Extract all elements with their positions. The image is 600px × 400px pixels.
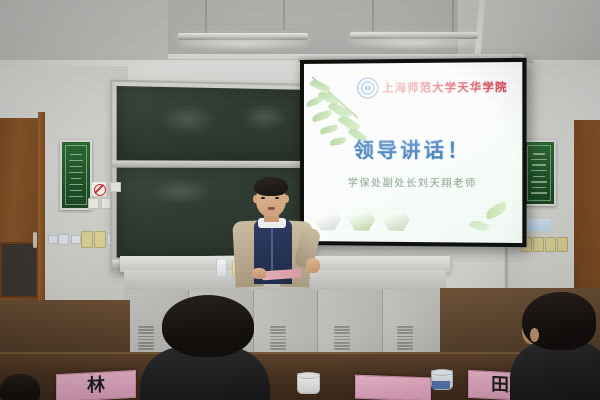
audience-person-left — [0, 374, 38, 400]
light-rod — [283, 0, 285, 30]
slide-subtitle: 学保处副处长刘天翔老师 — [304, 174, 522, 190]
audience-hair — [162, 295, 254, 357]
light-glow — [176, 36, 312, 52]
name-placard-left: 林 — [56, 370, 136, 400]
speaker-hair — [254, 177, 288, 196]
placard-text: 林 — [87, 377, 105, 396]
no-smoking-icon — [92, 182, 106, 196]
notice-board-text — [68, 149, 84, 202]
audience-ear — [530, 328, 539, 342]
leaf-decoration-right — [484, 201, 509, 220]
paper-cup — [431, 370, 453, 390]
speaker-mouth — [268, 207, 275, 210]
audience-person-right — [508, 290, 600, 400]
audience-jacket — [510, 342, 600, 400]
light-rod — [452, 0, 454, 34]
slide-thumbnails — [314, 207, 410, 232]
paper-cup — [297, 373, 320, 394]
speaker-hand-raised — [306, 258, 320, 273]
projection-screen: H 上海师范大学天华学院 领导讲话！ 学保处副处长刘天翔老师 — [300, 58, 527, 247]
blackboard-panel-top — [117, 86, 308, 162]
light-switch[interactable] — [533, 237, 544, 252]
ceiling-soffit-left — [0, 0, 180, 62]
water-bottle — [216, 259, 227, 277]
speaker-eye — [275, 197, 279, 199]
light-switch[interactable] — [88, 198, 99, 209]
speaker-ear — [284, 195, 289, 203]
notice-board-text — [530, 149, 548, 198]
name-placard-center — [355, 375, 431, 400]
hex-photo-3-icon — [382, 207, 409, 231]
door-window — [0, 242, 38, 298]
wall-outlet[interactable] — [48, 235, 58, 244]
speaker-zipper — [271, 224, 273, 276]
speaker-person — [228, 176, 320, 286]
light-switch[interactable] — [81, 231, 93, 248]
light-switch[interactable] — [545, 237, 556, 252]
presentation-slide: H 上海师范大学天华学院 领导讲话！ 学保处副处长刘天翔老师 — [304, 62, 522, 243]
slide-main-title: 领导讲话！ — [304, 134, 522, 164]
wall-outlet[interactable] — [58, 234, 69, 245]
door-handle[interactable] — [33, 232, 37, 248]
speaker-hand — [252, 268, 266, 279]
notice-board-right — [522, 140, 556, 206]
light-switch[interactable] — [557, 237, 568, 252]
light-glow — [348, 35, 482, 51]
audience-person-center — [140, 295, 270, 400]
university-logo-icon: H — [357, 77, 378, 98]
hex-photo-2-icon — [348, 207, 375, 231]
wall-poster — [526, 218, 552, 232]
classroom-photo: H 上海师范大学天华学院 领导讲话！ 学保处副处长刘天翔老师 — [0, 0, 600, 400]
light-switch[interactable] — [94, 231, 106, 248]
audience-hair — [0, 374, 40, 400]
wall-outlet[interactable] — [71, 235, 81, 244]
slide-university-header: 上海师范大学天华学院 — [382, 78, 507, 95]
speaker-ear — [253, 195, 258, 203]
leaf-decoration-right — [469, 217, 490, 234]
speaker-eye — [261, 197, 265, 199]
wall-outlet[interactable] — [110, 182, 121, 192]
light-rod — [372, 0, 374, 31]
light-rod — [205, 0, 207, 34]
logo-letter: H — [361, 81, 374, 94]
